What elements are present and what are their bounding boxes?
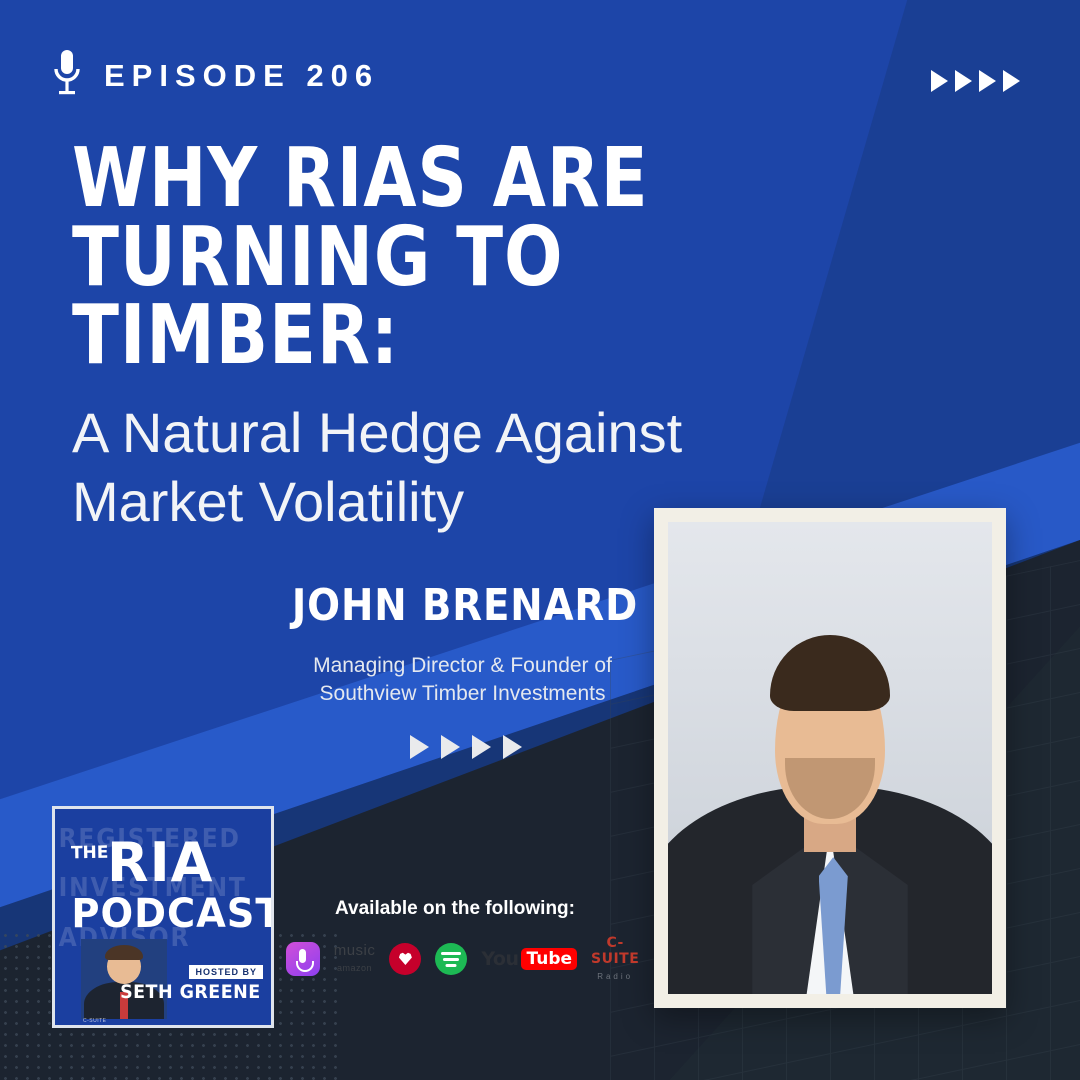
- microphone-icon: [52, 48, 82, 104]
- youtube-you-text: You: [481, 948, 518, 970]
- badge-host-name: SETH GREENE: [120, 981, 261, 1003]
- badge-podcast-label: PODCAST: [71, 891, 274, 937]
- badge-ria-label: RIA: [107, 831, 213, 894]
- episode-title-line-1: Why RIAs Are: [72, 140, 811, 219]
- spotify-wave-1: [441, 952, 461, 955]
- chevron-right-icon: [1003, 70, 1020, 92]
- guest-photo-frame: [654, 508, 1006, 1008]
- chevron-right-icon: [410, 735, 429, 759]
- spotify-wave-3: [446, 964, 457, 967]
- apple-podcasts-icon: [286, 942, 320, 976]
- available-on-title: Available on the following:: [290, 898, 620, 920]
- spotify-link[interactable]: [435, 943, 467, 975]
- podcast-cover-badge: REGISTERED INVESTMENT ADVISOR THE RIA PO…: [52, 806, 274, 1028]
- youtube-icon: You Tube: [481, 948, 577, 970]
- guest-photo: [668, 522, 992, 994]
- amazon-wordmark: amazon: [337, 963, 372, 973]
- title-block: Why RIAs Are Turning to Timber: A Natura…: [72, 140, 952, 534]
- badge-hosted-by-label: HOSTED BY: [189, 965, 263, 979]
- youtube-link[interactable]: You Tube: [481, 948, 577, 970]
- chevron-right-icon: [955, 70, 972, 92]
- badge-host-photo: [81, 939, 167, 1019]
- iheartradio-link[interactable]: [389, 943, 421, 975]
- amazon-music-link[interactable]: music amazon: [334, 943, 376, 975]
- amazon-music-wordmark: music: [334, 942, 376, 959]
- c-suite-text: C-SUITE: [591, 935, 639, 967]
- spotify-icon: [435, 943, 467, 975]
- chevron-right-icon: [472, 735, 491, 759]
- c-suite-radio-icon: C-SUITE Radio: [591, 935, 639, 983]
- chevron-right-icon: [931, 70, 948, 92]
- podcast-episode-graphic: EPISODE 206 Why RIAs Are Turning to Timb…: [0, 0, 1080, 1080]
- apple-podcasts-link[interactable]: [286, 942, 320, 976]
- badge-tiny-credit: C-SUITE: [83, 1018, 107, 1024]
- chevron-row-top: [931, 70, 1020, 92]
- chevron-row-divider: [410, 735, 522, 759]
- episode-subtitle-line-1: A Natural Hedge Against: [72, 402, 952, 465]
- badge-the-label: THE: [71, 843, 109, 864]
- platform-logo-row: music amazon You Tube C-SUITE Radio: [290, 935, 635, 983]
- c-suite-radio-link[interactable]: C-SUITE Radio: [591, 935, 639, 983]
- chevron-right-icon: [441, 735, 460, 759]
- episode-title-line-2: Turning to Timber:: [72, 219, 811, 376]
- episode-label: EPISODE 206: [104, 58, 379, 94]
- radio-text: Radio: [597, 972, 633, 981]
- iheartradio-icon: [389, 943, 421, 975]
- amazon-music-icon: music amazon: [334, 943, 376, 975]
- badge-host-hair: [105, 945, 143, 959]
- spotify-wave-2: [443, 958, 459, 961]
- header: EPISODE 206: [52, 48, 379, 104]
- youtube-tube-text: Tube: [521, 948, 577, 970]
- chevron-right-icon: [503, 735, 522, 759]
- chevron-right-icon: [979, 70, 996, 92]
